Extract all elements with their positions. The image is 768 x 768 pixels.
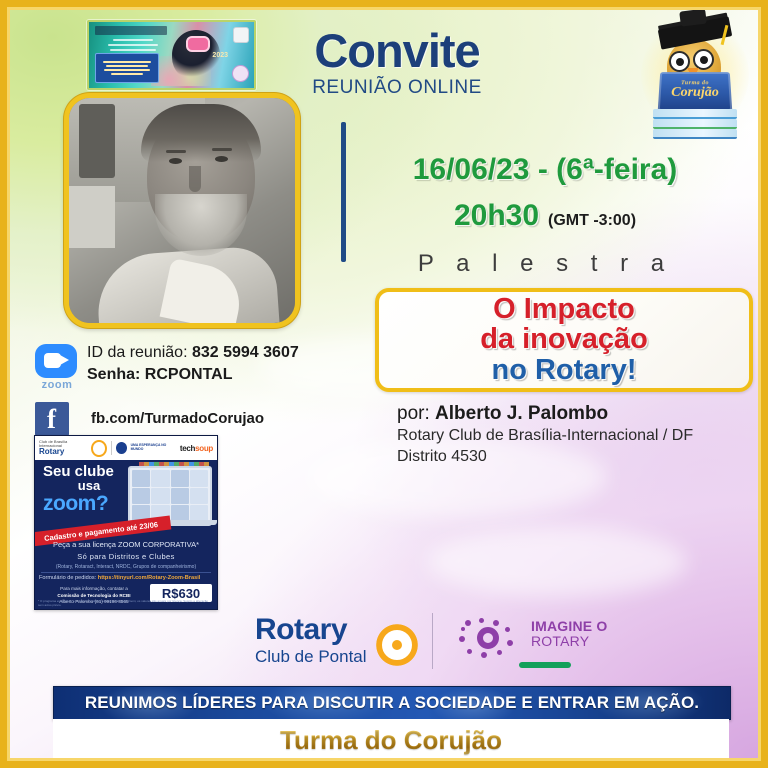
owl-book-text: Turma do Corujão <box>658 80 731 100</box>
flyer-contact-line2: Comissão de Tecnologia do RCBI <box>57 593 130 598</box>
flyer-offer-line2: Só para Distritos e Clubes <box>35 552 217 561</box>
zoom-wordmark: zoom <box>35 379 79 391</box>
owl-book: Turma do Corujão <box>658 72 733 111</box>
banner-ribbon <box>95 26 167 35</box>
zoom-credentials: ID da reunião: 832 5994 3607 Senha: RCPO… <box>87 344 299 384</box>
logo-divider <box>432 613 433 669</box>
speaker-credit: por: Alberto J. Palombo Rotary Club de B… <box>397 403 747 467</box>
topic-line-2: da inovação <box>480 324 648 354</box>
imagine-line-1: IMAGINE O <box>531 619 607 634</box>
imagine-rotary-logo: IMAGINE O ROTARY <box>459 612 609 674</box>
imagine-line-2: ROTARY <box>531 634 607 649</box>
flyer-offer-line1: Peça a sua licença ZOOM CORPORATIVA* <box>35 540 217 549</box>
laptop-grid-icon <box>128 466 212 526</box>
facebook-handle[interactable]: fb.com/TurmadoCorujao <box>91 410 264 427</box>
event-time-row: 20h30 (GMT -3:00) <box>375 199 715 233</box>
flyer-form-url[interactable]: https://tinyurl.com/Rotary-Zoom-Brasil <box>98 575 201 581</box>
zoom-icon[interactable] <box>35 344 77 378</box>
rotary-wheel-icon <box>371 619 423 671</box>
topic-line-3: no Rotary! <box>492 355 637 386</box>
page-subtitle: REUNIÃO ONLINE <box>289 77 505 99</box>
speaker-prefix: por: <box>397 403 430 424</box>
facebook-icon[interactable]: f <box>35 402 69 436</box>
flyer-q-line2: usa <box>43 479 135 493</box>
flyer-form-label: Formulário de pedidos: <box>39 575 96 581</box>
flyer-header: Club de Brasília Internacional Rotary UM… <box>35 436 217 460</box>
rotary-club-logo: Rotary Club de Pontal <box>255 615 415 677</box>
flyer-offer-line3: (Rotary, Rotaract, Interact, NRDC, Grupo… <box>35 564 217 570</box>
meeting-id-label: ID da reunião: <box>87 344 188 361</box>
zoom-licence-flyer[interactable]: Club de Brasília Internacional Rotary UM… <box>34 435 218 610</box>
owl-eye-right <box>693 49 714 70</box>
invitation-poster: 2023 Convite REUNIÃO ONLINE 16/06/23 - (… <box>0 0 768 768</box>
banner-year: 2023 <box>212 52 228 59</box>
event-banner-thumbnail: 2023 <box>87 20 256 90</box>
speaker-photo <box>64 93 300 328</box>
techsoup-part-a: tech <box>180 444 195 453</box>
topic-line-1: O Impacto <box>493 294 635 324</box>
divider <box>111 441 112 455</box>
slogan-text: REUNIMOS LÍDERES PARA DISCUTIR A SOCIEDA… <box>85 693 699 713</box>
meeting-id-value: 832 5994 3607 <box>192 344 299 361</box>
page-title: Convite <box>297 23 497 78</box>
flyer-form-row: Formulário de pedidos: https://tinyurl.c… <box>39 575 200 581</box>
meeting-id-row: ID da reunião: 832 5994 3607 <box>87 344 299 362</box>
banner-seal-icon <box>232 65 249 82</box>
group-name-strip: Turma do Corujão <box>53 719 729 761</box>
flyer-question: Seu clube usa zoom? <box>43 464 135 514</box>
group-name: Turma do Corujão <box>280 725 502 756</box>
flyer-fine-print: * O programa está sujeito a termos e con… <box>38 600 214 608</box>
techsoup-logo: techsoup <box>180 444 213 453</box>
event-timezone: (GMT -3:00) <box>548 212 636 230</box>
diving-mask <box>186 36 210 52</box>
flyer-partner-text: UMA ESPERANÇA NO MUNDO <box>131 444 176 452</box>
flyer-divider <box>41 572 211 573</box>
flyer-rotary-logo: Club de Brasília Internacional Rotary <box>39 440 87 456</box>
imagine-underline <box>519 662 571 668</box>
topic-box: O Impacto da inovação no Rotary! <box>375 288 753 392</box>
flyer-rotary-word: Rotary <box>39 447 64 456</box>
imagine-dots-icon <box>459 618 521 658</box>
speaker-district: Distrito 4530 <box>397 446 747 467</box>
event-kind-label: P a l e s t r a <box>375 250 715 278</box>
flyer-q-line1: Seu clube <box>43 464 135 479</box>
vertical-divider <box>341 122 346 262</box>
banner-callout <box>95 53 159 83</box>
speaker-name: Alberto J. Palombo <box>435 403 608 424</box>
owl-book-line-2: Corujão <box>658 86 731 101</box>
meeting-password: Senha: RCPONTAL <box>87 366 299 384</box>
banner-badge-icon <box>233 27 249 43</box>
speaker-name-row: por: Alberto J. Palombo <box>397 403 747 425</box>
owl-mascot-logo: Turma do Corujão <box>637 13 753 139</box>
rotary-wheel-icon <box>91 440 107 457</box>
flyer-contact-line1: Para mais informação, contatar a <box>60 586 128 591</box>
globe-icon <box>116 442 127 454</box>
event-time: 20h30 <box>454 199 539 233</box>
flyer-q-line3: zoom? <box>43 493 135 514</box>
book-stack <box>653 109 737 137</box>
techsoup-part-b: soup <box>195 444 213 453</box>
imagine-text: IMAGINE O ROTARY <box>531 619 607 648</box>
speaker-club: Rotary Club de Brasília-Internacional / … <box>397 425 747 446</box>
event-date: 16/06/23 - (6ª-feira) <box>375 153 715 187</box>
slogan-banner: REUNIMOS LÍDERES PARA DISCUTIR A SOCIEDA… <box>53 686 731 720</box>
